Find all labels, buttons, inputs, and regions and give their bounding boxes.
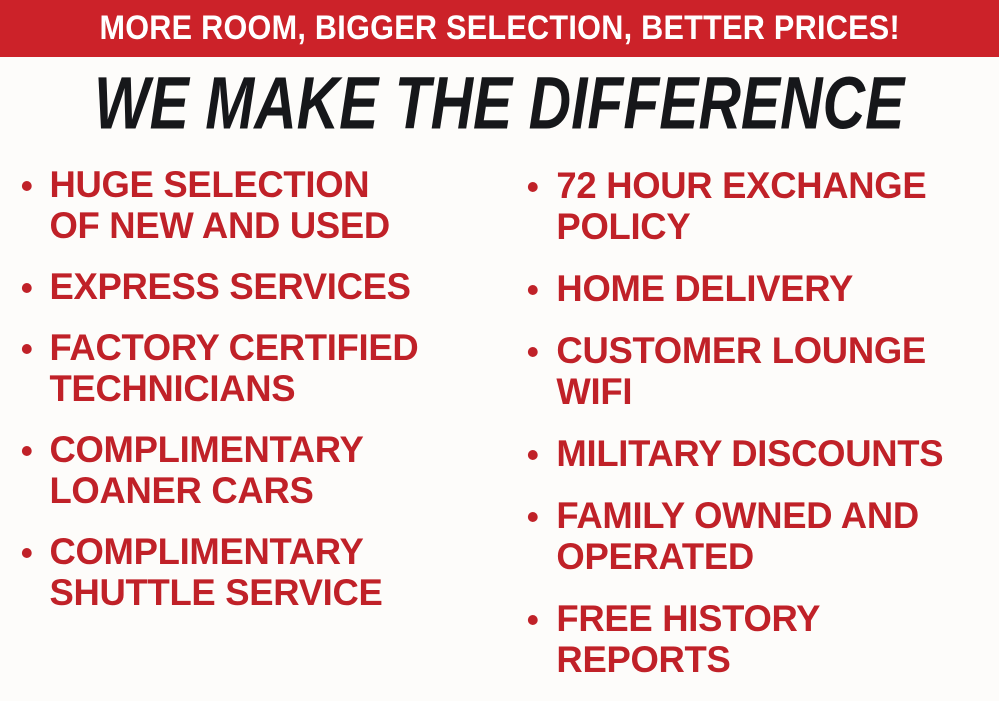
list-item: COMPLIMENTARY SHUTTLE SERVICE (14, 531, 498, 613)
list-item: FACTORY CERTIFIED TECHNICIANS (14, 327, 498, 409)
list-item: HOME DELIVERY (519, 268, 992, 309)
list-item: CUSTOMER LOUNGE WIFI (519, 330, 992, 412)
list-item: MILITARY DISCOUNTS (519, 433, 992, 474)
list-item: HUGE SELECTION OF NEW AND USED (14, 164, 498, 246)
promo-poster: MORE ROOM, BIGGER SELECTION, BETTER PRIC… (0, 0, 999, 692)
list-item: FAMILY OWNED AND OPERATED (519, 495, 992, 577)
list-item: COMPLIMENTARY LOANER CARS (14, 429, 498, 511)
promo-banner-text: MORE ROOM, BIGGER SELECTION, BETTER PRIC… (99, 10, 899, 48)
feature-list-right: 72 HOUR EXCHANGE POLICY HOME DELIVERY CU… (519, 165, 999, 680)
promo-banner: MORE ROOM, BIGGER SELECTION, BETTER PRIC… (0, 0, 999, 57)
features-columns: HUGE SELECTION OF NEW AND USED EXPRESS S… (0, 152, 999, 692)
features-column-right: 72 HOUR EXCHANGE POLICY HOME DELIVERY CU… (505, 152, 999, 701)
headline-container: WE MAKE THE DIFFERENCE (0, 62, 999, 144)
list-item: EXPRESS SERVICES (14, 266, 498, 307)
list-item: FREE HISTORY REPORTS (519, 598, 992, 680)
features-column-left: HUGE SELECTION OF NEW AND USED EXPRESS S… (0, 152, 505, 633)
feature-list-left: HUGE SELECTION OF NEW AND USED EXPRESS S… (14, 164, 505, 613)
list-item: 72 HOUR EXCHANGE POLICY (519, 165, 992, 247)
page-title: WE MAKE THE DIFFERENCE (94, 65, 904, 141)
